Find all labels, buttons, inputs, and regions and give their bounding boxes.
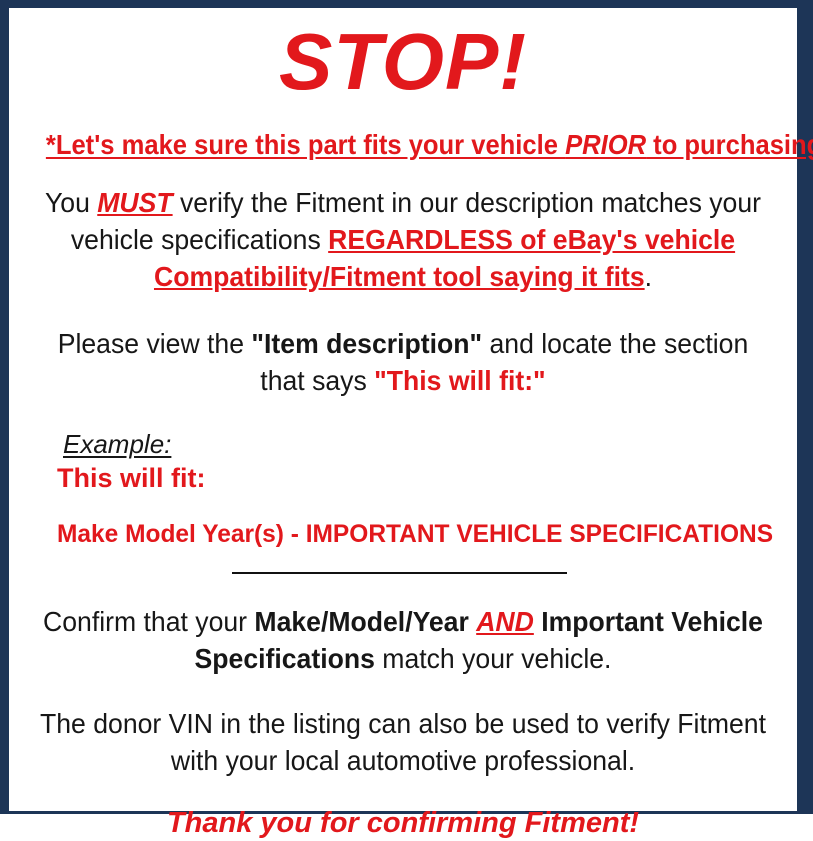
subtitle-tail-text: to purchasing*	[646, 129, 813, 160]
example-this-will-fit-heading: This will fit:	[57, 463, 787, 494]
subtitle-warning: *Let's make sure this part fits your veh…	[46, 128, 760, 161]
example-block: Example: This will fit: Make Model Year(…	[19, 430, 787, 549]
confirm-emphasis-and: AND	[476, 606, 534, 637]
paragraph-must-verify: You MUST verify the Fitment in our descr…	[38, 185, 768, 296]
confirm-emphasis-make-model-year: Make/Model/Year	[254, 606, 468, 637]
confirm-segment-one: Confirm that your	[43, 606, 254, 637]
thank-you-message: Thank you for confirming Fitment!	[19, 806, 787, 841]
horizontal-rule	[232, 572, 567, 574]
page-title: STOP!	[19, 22, 787, 102]
must-emphasis-word: MUST	[97, 187, 172, 218]
paragraph-donor-vin: The donor VIN in the listing can also be…	[38, 706, 768, 780]
view-emphasis-this-will-fit: "This will fit:"	[374, 365, 546, 396]
divider-wrapper	[19, 572, 787, 576]
paragraph-item-description: Please view the "Item description" and l…	[38, 326, 768, 400]
confirm-space-two	[534, 606, 541, 637]
must-segment-three: .	[645, 261, 652, 292]
fitment-notice-frame: STOP! *Let's make sure this part fits yo…	[0, 0, 813, 814]
must-segment-one: You	[45, 187, 97, 218]
example-specification-line: Make Model Year(s) - IMPORTANT VEHICLE S…	[57, 520, 772, 549]
confirm-space-one	[469, 606, 476, 637]
notice-content-area: STOP! *Let's make sure this part fits yo…	[9, 22, 797, 811]
view-emphasis-item-description: "Item description"	[251, 328, 482, 359]
subtitle-emphasis-prior: PRIOR	[565, 129, 646, 160]
confirm-segment-tail: match your vehicle.	[375, 643, 612, 674]
paragraph-confirm: Confirm that your Make/Model/Year AND Im…	[38, 604, 768, 678]
subtitle-lead-text: *Let's make sure this part fits your veh…	[46, 129, 565, 160]
example-label: Example:	[63, 430, 171, 460]
view-segment-one: Please view the	[58, 328, 252, 359]
